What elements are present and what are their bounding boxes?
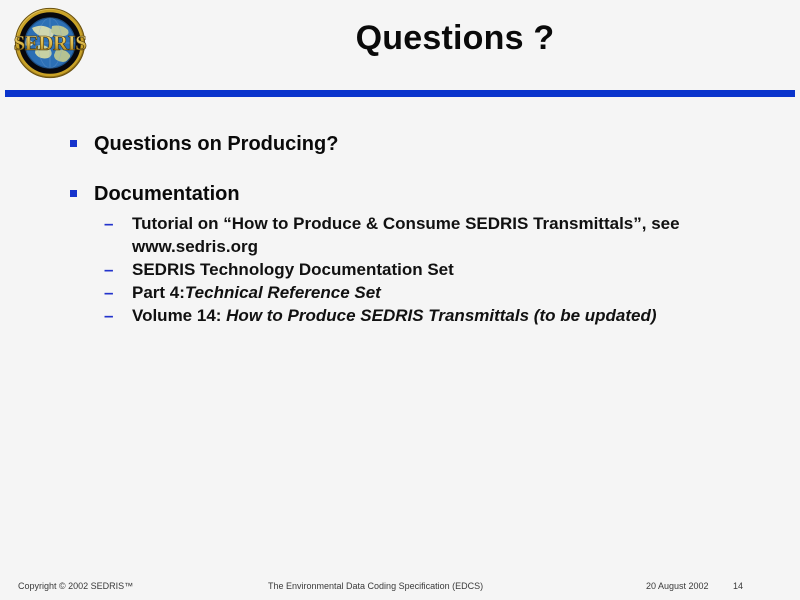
sub-bullet-item-tutorial: – Tutorial on “How to Produce & Consume …: [104, 212, 707, 258]
sub-bullet-item-part4: – Part 4:Technical Reference Set: [104, 281, 707, 304]
en-dash-bullet-icon: –: [104, 212, 113, 235]
bullet-item-documentation: Documentation: [68, 180, 800, 208]
bullet-label: Questions on Producing?: [94, 133, 338, 155]
sub-bullet-label-italic: How to Produce SEDRIS Transmittals (to b…: [226, 306, 656, 325]
square-bullet-icon: [70, 140, 77, 147]
sub-bullet-label: Tutorial on “How to Produce & Consume SE…: [132, 214, 680, 256]
spacer: [0, 158, 800, 180]
en-dash-bullet-icon: –: [104, 258, 113, 281]
sub-bullet-item-volume14: – Volume 14: How to Produce SEDRIS Trans…: [104, 304, 707, 327]
bullet-item-questions-on-producing: Questions on Producing?: [68, 130, 800, 158]
slide-footer: Copyright © 2002 SEDRIS™ The Environment…: [0, 575, 800, 600]
page-title: Questions ?: [110, 16, 800, 60]
sedris-logo: SEDRIS: [6, 6, 94, 80]
sub-bullet-label-italic: Technical Reference Set: [185, 283, 381, 302]
sub-bullet-label: SEDRIS Technology Documentation Set: [132, 260, 454, 279]
title-divider: [5, 90, 795, 97]
en-dash-bullet-icon: –: [104, 304, 113, 327]
footer-copyright: Copyright © 2002 SEDRIS™: [18, 581, 133, 591]
slide: SEDRIS Questions ? Questions on Producin…: [0, 0, 800, 600]
slide-body: Questions on Producing? Documentation – …: [0, 130, 800, 550]
footer-page-number: 14: [733, 581, 743, 591]
bullet-label: Documentation: [94, 183, 240, 205]
footer-subtitle: The Environmental Data Coding Specificat…: [268, 581, 483, 591]
sub-bullet-label: Volume 14:: [132, 306, 226, 325]
square-bullet-icon: [70, 190, 77, 197]
sedris-logo-wordmark: SEDRIS: [14, 31, 87, 55]
sub-bullet-label: Part 4:: [132, 283, 185, 302]
slide-header: SEDRIS Questions ?: [0, 0, 800, 90]
footer-date: 20 August 2002: [646, 581, 709, 591]
sub-bullet-item-documentation-set: – SEDRIS Technology Documentation Set: [104, 258, 707, 281]
en-dash-bullet-icon: –: [104, 281, 113, 304]
